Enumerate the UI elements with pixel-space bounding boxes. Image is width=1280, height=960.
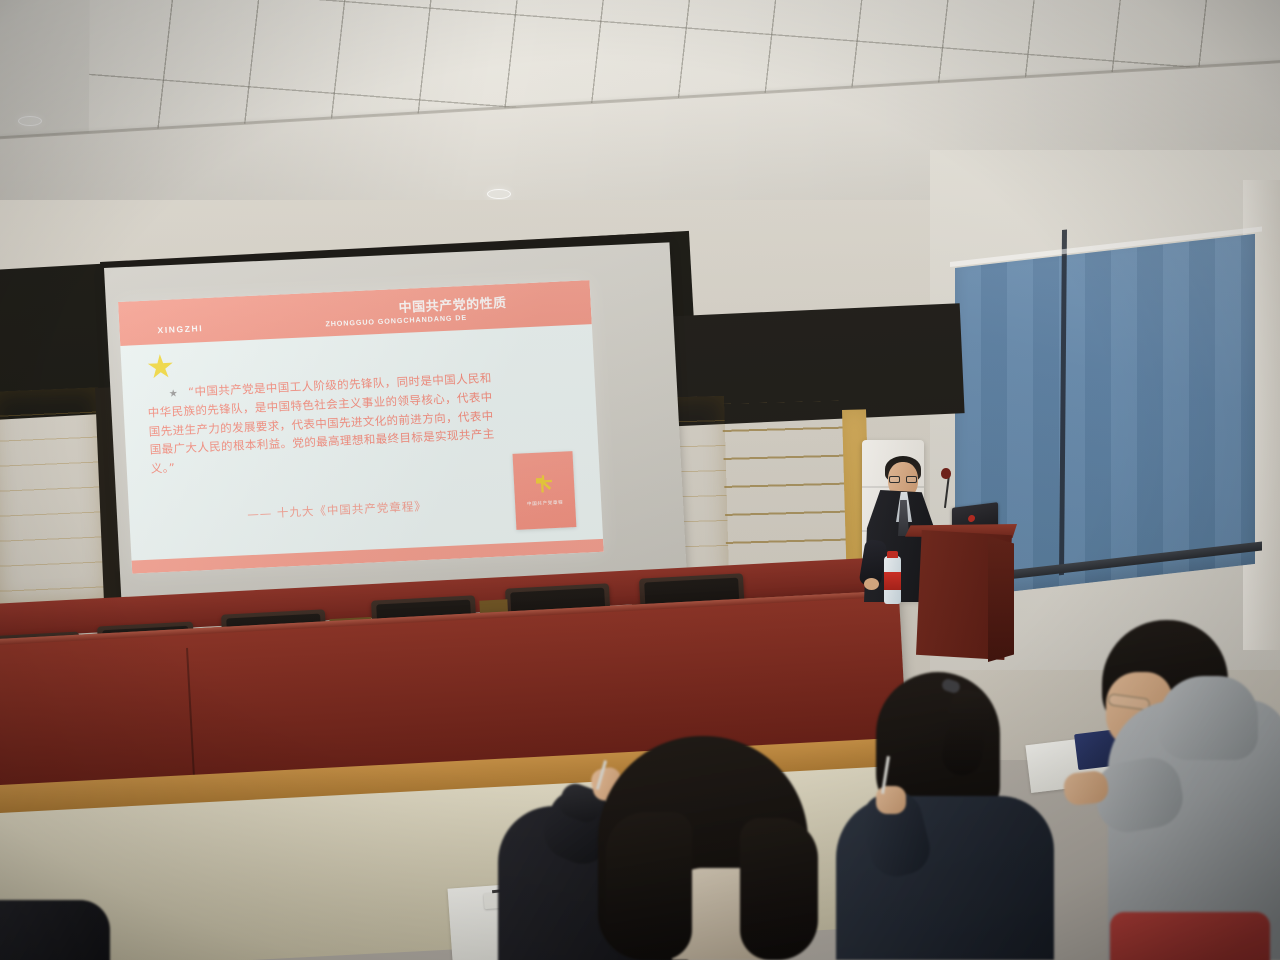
slide-attribution: —— 十九大《中国共产党章程》	[247, 498, 427, 522]
party-constitution-book: 中国共产党章程	[512, 451, 576, 530]
slide-header-chinese-title: 中国共产党的性质	[398, 292, 507, 316]
lecture-hall-photo: XINGZHI ZHONGGUO GONGCHANDANG DE 中国共产党的性…	[0, 0, 1280, 960]
hammer-and-sickle-icon	[534, 474, 554, 494]
wall-panel-wood	[0, 387, 107, 603]
wall-recess-shelf	[96, 404, 110, 406]
projected-slide: XINGZHI ZHONGGUO GONGCHANDANG DE 中国共产党的性…	[118, 280, 604, 573]
lectern-side-panel	[988, 536, 1014, 662]
five-pointed-star-icon	[147, 354, 174, 381]
slide-quote: ★“中国共产党是中国工人阶级的先锋队，同时是中国人民和中华民族的先锋队，是中国特…	[146, 369, 501, 479]
downlight-icon	[487, 189, 511, 199]
bullet-star-icon: ★	[169, 388, 179, 399]
red-chair-back[interactable]	[1110, 912, 1270, 960]
microphone-icon	[941, 468, 951, 479]
presenter-hand	[864, 578, 879, 590]
downlight-icon	[18, 116, 42, 126]
slide-quote-text: “中国共产党是中国工人阶级的先锋队，同时是中国人民和中华民族的先锋队，是中国特色…	[147, 371, 494, 476]
student-far-left	[0, 900, 110, 960]
slide-header-pinyin: ZHONGGUO GONGCHANDANG DE	[325, 313, 467, 329]
water-bottle-cap	[887, 551, 898, 558]
book-title: 中国共产党章程	[527, 500, 564, 508]
slide-header-left-label: XINGZHI	[157, 323, 203, 335]
water-bottle-label	[884, 572, 901, 590]
glasses-icon	[889, 476, 917, 483]
student-right-hood	[1158, 676, 1258, 760]
student-center-hair-front	[740, 818, 818, 960]
student-center-hair-front	[606, 812, 692, 960]
